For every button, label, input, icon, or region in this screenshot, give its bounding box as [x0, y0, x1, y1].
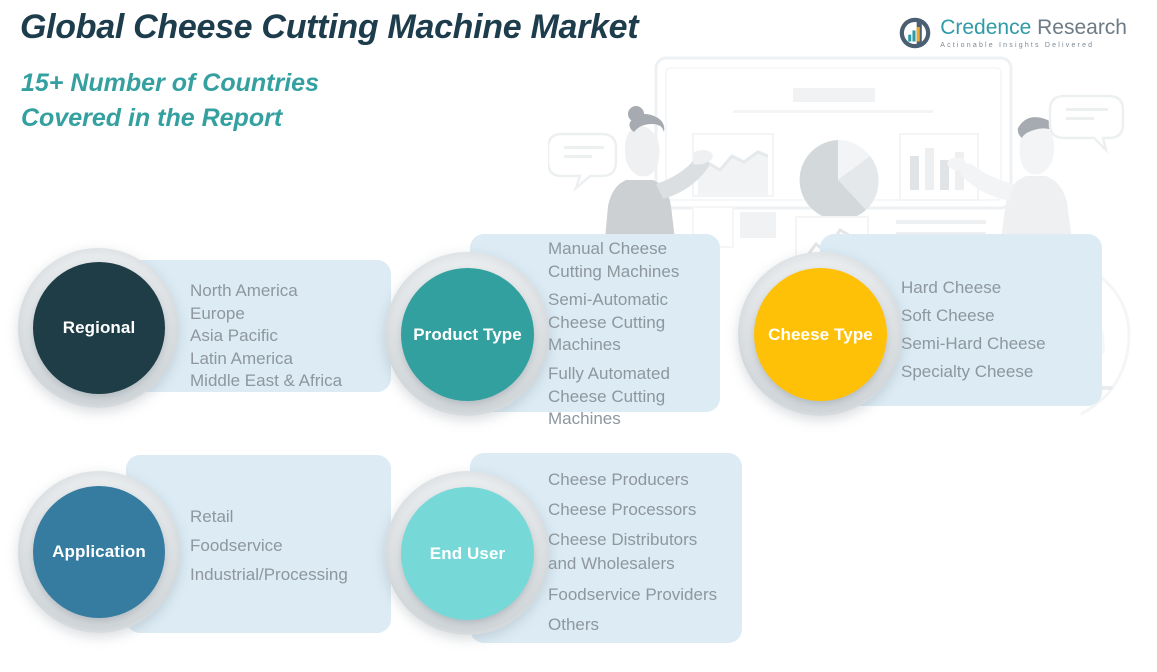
- card-label: Application: [52, 542, 146, 562]
- card-items: North America Europe Asia Pacific Latin …: [190, 280, 390, 393]
- card-items: Cheese Producers Cheese Processors Chees…: [548, 468, 768, 637]
- card-label: Product Type: [413, 325, 522, 345]
- list-item: Cheese Processors: [548, 498, 768, 522]
- card-label: Cheese Type: [768, 325, 873, 345]
- list-item: Cheese Distributors and Wholesalers: [548, 528, 768, 576]
- list-item: Others: [548, 613, 768, 637]
- list-item: North America: [190, 280, 390, 303]
- logo-text: Credence Research Actionable Insights De…: [940, 17, 1127, 49]
- card-circle-cheese-type[interactable]: Cheese Type: [754, 268, 887, 401]
- list-item: Specialty Cheese: [901, 358, 1116, 386]
- list-item: Foodservice: [190, 531, 400, 560]
- list-item: Middle East & Africa: [190, 370, 390, 393]
- card-label: Regional: [63, 318, 136, 338]
- credence-research-logo: Credence Research Actionable Insights De…: [898, 16, 1127, 50]
- list-item: Foodservice Providers: [548, 583, 768, 607]
- logo-tagline: Actionable Insights Delivered: [940, 42, 1127, 49]
- list-item: Fully Automated Cheese Cutting Machines: [548, 363, 738, 431]
- card-circle-end-user[interactable]: End User: [401, 487, 534, 620]
- logo-name: Credence Research: [940, 17, 1127, 38]
- speech-bubble-right-icon: [1050, 96, 1123, 150]
- list-item: Europe: [190, 303, 390, 326]
- list-item: Industrial/Processing: [190, 560, 400, 589]
- list-item: Semi-Automatic Cheese Cutting Machines: [548, 289, 738, 357]
- logo-name-primary: Credence: [940, 16, 1031, 39]
- page-subtitle: 15+ Number of Countries Covered in the R…: [21, 66, 319, 135]
- speech-bubble-left-icon: [548, 134, 616, 188]
- card-circle-application[interactable]: Application: [33, 486, 165, 618]
- card-items: Manual Cheese Cutting Machines Semi-Auto…: [548, 238, 738, 431]
- list-item: Manual Cheese Cutting Machines: [548, 238, 738, 283]
- card-label: End User: [430, 544, 505, 564]
- list-item: Semi-Hard Cheese: [901, 330, 1116, 358]
- card-circle-product-type[interactable]: Product Type: [401, 268, 534, 401]
- list-item: Latin America: [190, 348, 390, 371]
- logo-name-secondary: Research: [1037, 16, 1127, 39]
- card-items: Hard Cheese Soft Cheese Semi-Hard Cheese…: [901, 274, 1116, 386]
- card-items: Retail Foodservice Industrial/Processing: [190, 502, 400, 590]
- list-item: Soft Cheese: [901, 302, 1116, 330]
- card-circle-regional[interactable]: Regional: [33, 262, 165, 394]
- list-item: Asia Pacific: [190, 325, 390, 348]
- page-title: Global Cheese Cutting Machine Market: [20, 8, 638, 47]
- bar-chart-circle-logo-icon: [898, 16, 932, 50]
- infographic-page: Global Cheese Cutting Machine Market 15+…: [0, 0, 1157, 672]
- list-item: Hard Cheese: [901, 274, 1116, 302]
- list-item: Retail: [190, 502, 400, 531]
- list-item: Cheese Producers: [548, 468, 768, 492]
